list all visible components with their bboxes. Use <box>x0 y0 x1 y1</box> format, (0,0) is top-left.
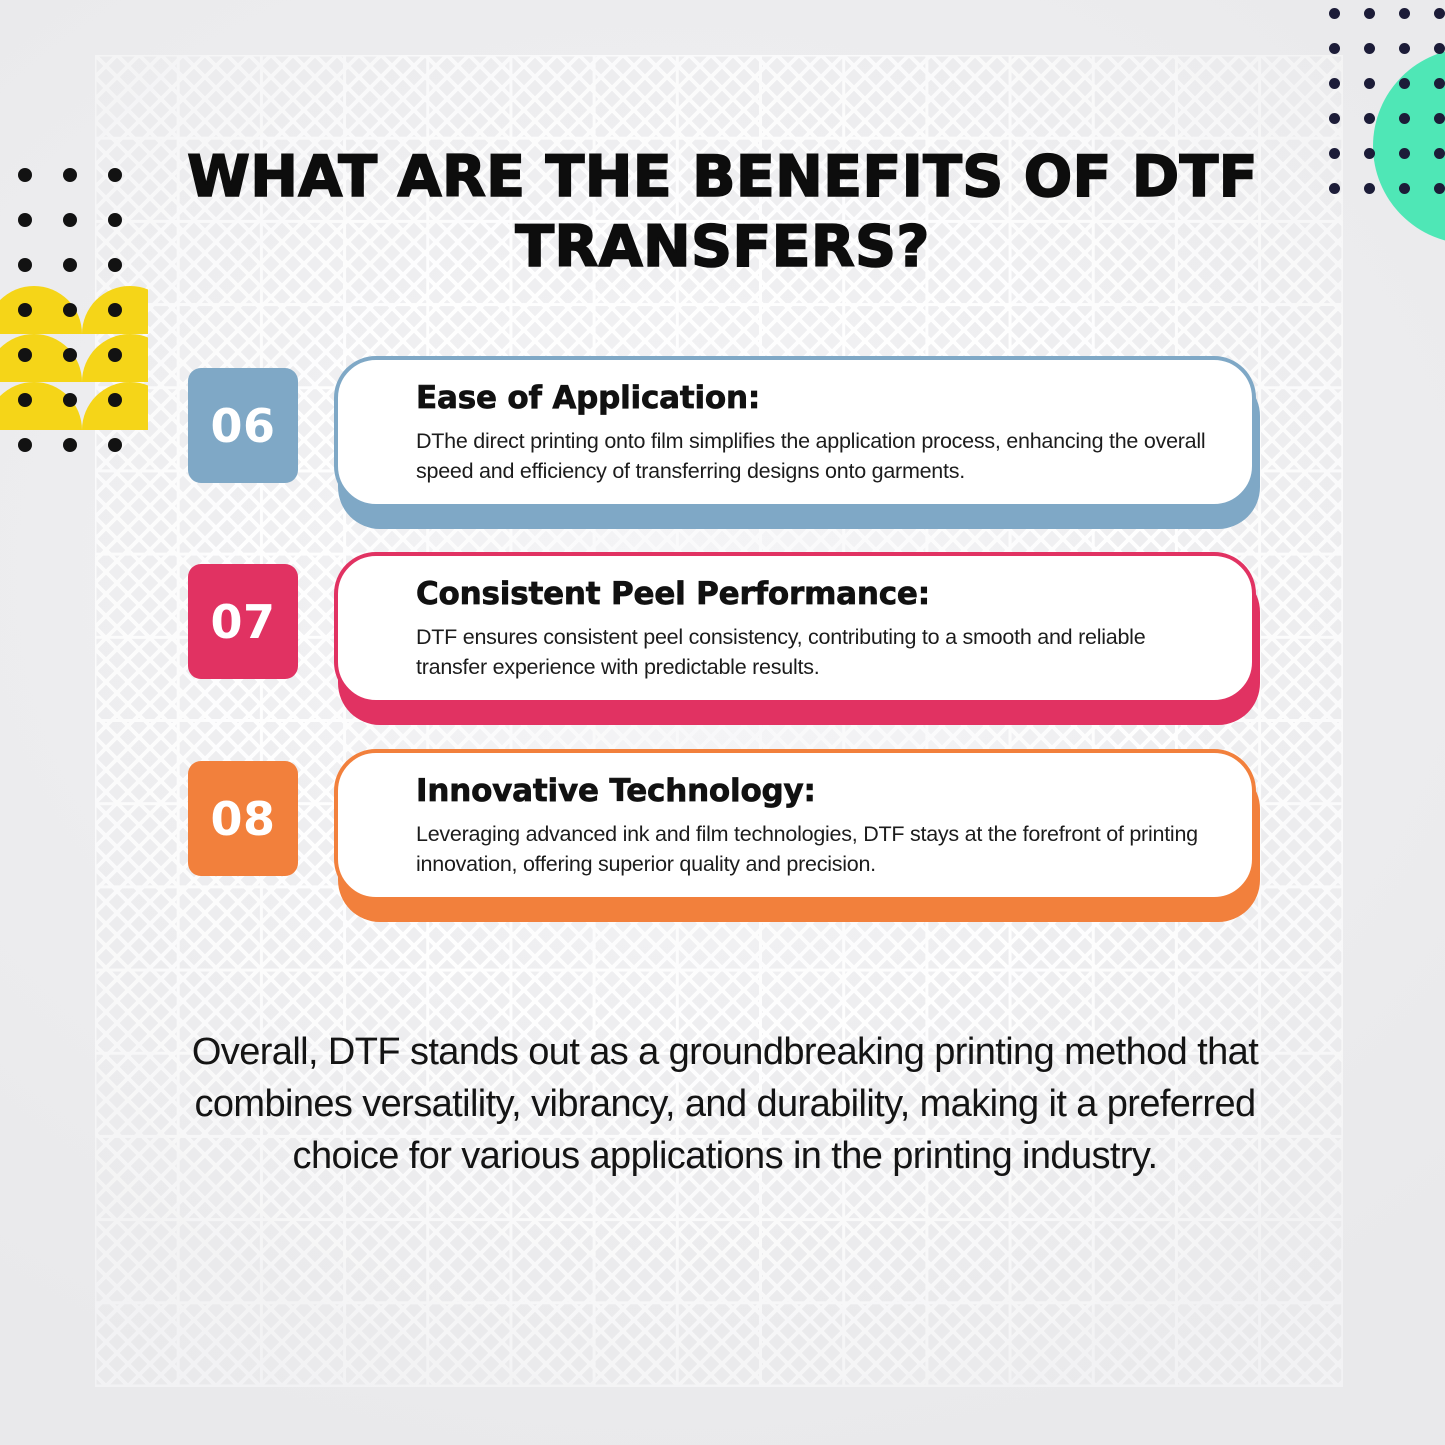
dot <box>1399 8 1410 19</box>
dot <box>63 438 77 452</box>
dot <box>1329 43 1340 54</box>
dot <box>1364 8 1375 19</box>
badge-label-06: 06 <box>210 399 275 453</box>
dot <box>1434 183 1445 194</box>
closing-paragraph: Overall, DTF stands out as a groundbreak… <box>175 1026 1275 1182</box>
dot <box>108 168 122 182</box>
dot <box>1364 113 1375 124</box>
benefit-body-06: DThe direct printing onto film simplifie… <box>416 426 1210 486</box>
dot <box>1399 148 1410 159</box>
benefit-body-08: Leveraging advanced ink and film technol… <box>416 819 1210 879</box>
dot <box>63 258 77 272</box>
top-right-dot-grid <box>1329 8 1445 218</box>
benefit-body-07: DTF ensures consistent peel consistency,… <box>416 622 1210 682</box>
dot <box>108 348 122 362</box>
dot <box>1329 78 1340 89</box>
dot <box>1329 8 1340 19</box>
dot <box>1364 183 1375 194</box>
dot <box>18 393 32 407</box>
dot <box>1364 78 1375 89</box>
infographic-poster: WHAT ARE THE BENEFITS OF DTF TRANSFERS? … <box>0 0 1445 1445</box>
badge-number-07: 07 <box>188 564 298 679</box>
dot <box>1329 148 1340 159</box>
dot <box>1434 148 1445 159</box>
dot <box>1329 183 1340 194</box>
dot <box>1434 113 1445 124</box>
dot <box>1399 183 1410 194</box>
dot <box>1364 148 1375 159</box>
dot <box>18 213 32 227</box>
dot <box>63 168 77 182</box>
badge-label-07: 07 <box>210 595 275 649</box>
page-title: WHAT ARE THE BENEFITS OF DTF TRANSFERS? <box>160 142 1285 282</box>
dot <box>108 213 122 227</box>
dot <box>18 438 32 452</box>
dot <box>1399 113 1410 124</box>
dot <box>108 438 122 452</box>
dot <box>108 258 122 272</box>
benefit-heading-08: Innovative Technology: <box>416 771 1210 811</box>
benefit-card-07[interactable]: Consistent Peel Performance: DTF ensures… <box>334 552 1256 704</box>
dot <box>108 303 122 317</box>
dot <box>1329 113 1340 124</box>
dot <box>63 393 77 407</box>
benefit-heading-07: Consistent Peel Performance: <box>416 574 1210 614</box>
badge-number-06: 06 <box>188 368 298 483</box>
benefit-row-07: 07 Consistent Peel Performance: DTF ensu… <box>188 548 1260 713</box>
dot <box>63 213 77 227</box>
left-dot-grid <box>18 168 153 483</box>
dot <box>1434 43 1445 54</box>
dot <box>1434 8 1445 19</box>
dot <box>18 348 32 362</box>
dot <box>63 348 77 362</box>
badge-number-08: 08 <box>188 761 298 876</box>
benefit-card-06[interactable]: Ease of Application: DThe direct printin… <box>334 356 1256 508</box>
dot <box>1399 78 1410 89</box>
dot <box>18 303 32 317</box>
dot <box>108 393 122 407</box>
benefit-row-06: 06 Ease of Application: DThe direct prin… <box>188 352 1260 517</box>
benefit-card-08[interactable]: Innovative Technology: Leveraging advanc… <box>334 749 1256 901</box>
dot <box>1399 43 1410 54</box>
benefit-heading-06: Ease of Application: <box>416 378 1210 418</box>
benefit-row-08: 08 Innovative Technology: Leveraging adv… <box>188 745 1260 910</box>
dot <box>1364 43 1375 54</box>
dot <box>18 258 32 272</box>
badge-label-08: 08 <box>210 792 275 846</box>
dot <box>63 303 77 317</box>
dot <box>18 168 32 182</box>
dot <box>1434 78 1445 89</box>
